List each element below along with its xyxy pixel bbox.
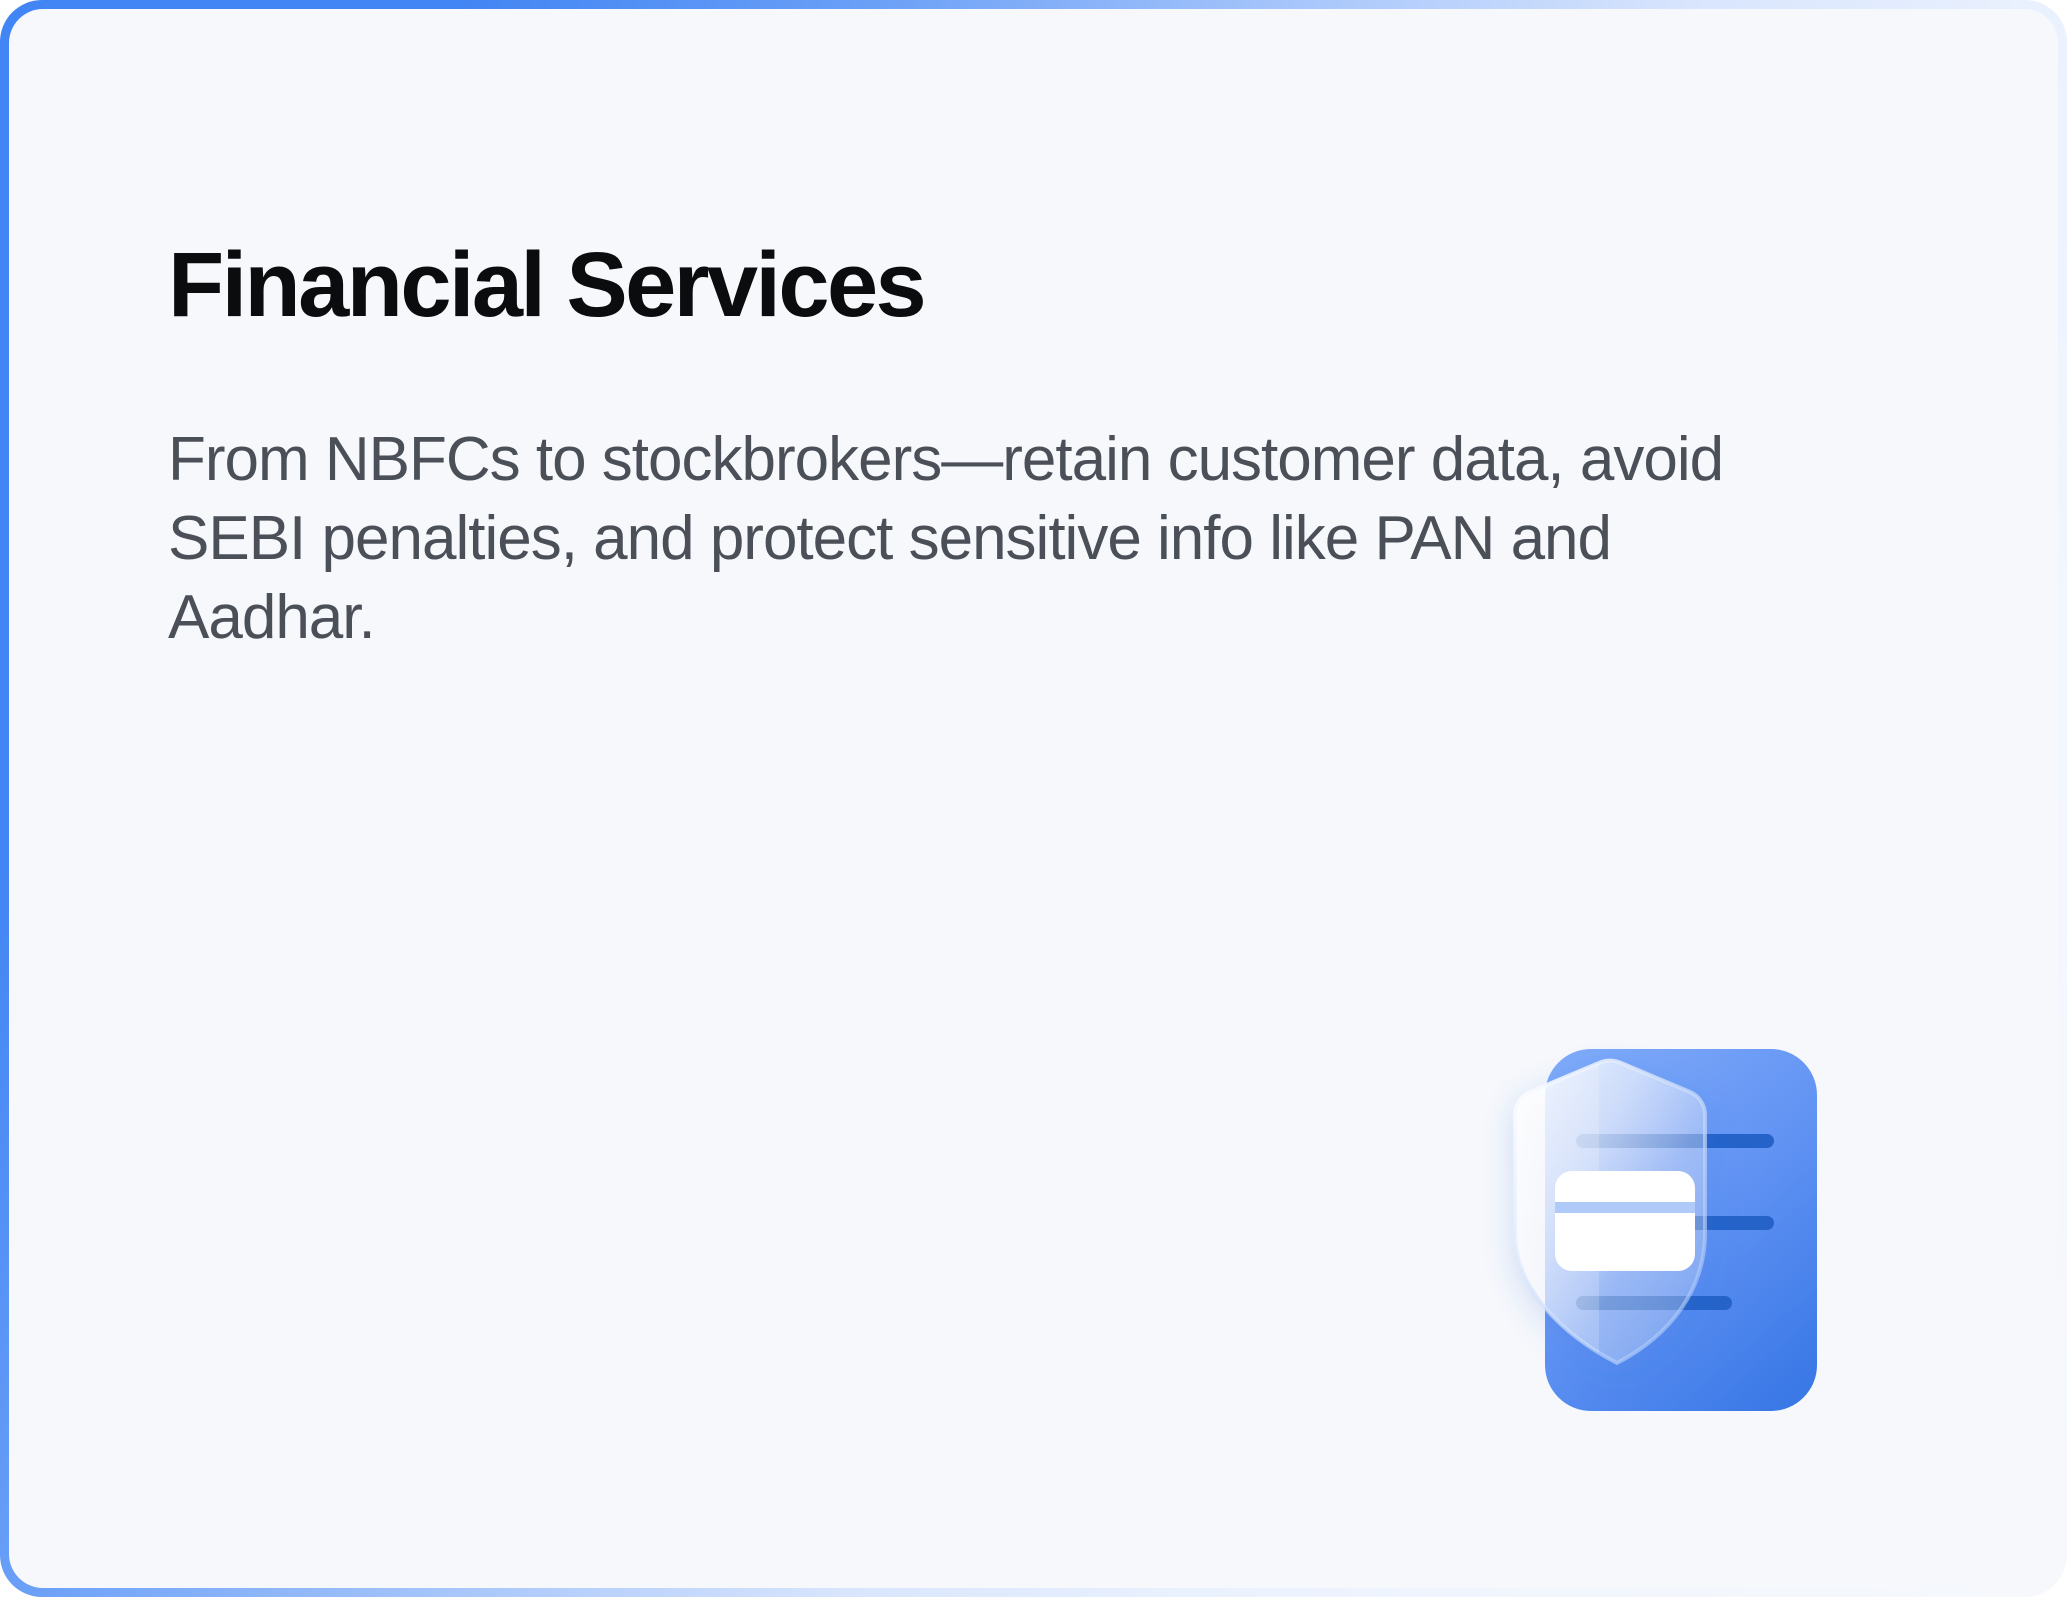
- credit-card-icon: [1555, 1171, 1695, 1271]
- page-title: Financial Services: [168, 237, 1788, 334]
- feature-card-frame: Financial Services From NBFCs to stockbr…: [0, 0, 2067, 1597]
- card-content: Financial Services From NBFCs to stockbr…: [168, 237, 1788, 657]
- shielded-payment-document-illustration: [1387, 1019, 1847, 1479]
- page-description: From NBFCs to stockbrokers—retain custom…: [168, 420, 1743, 657]
- feature-card: Financial Services From NBFCs to stockbr…: [9, 9, 2058, 1588]
